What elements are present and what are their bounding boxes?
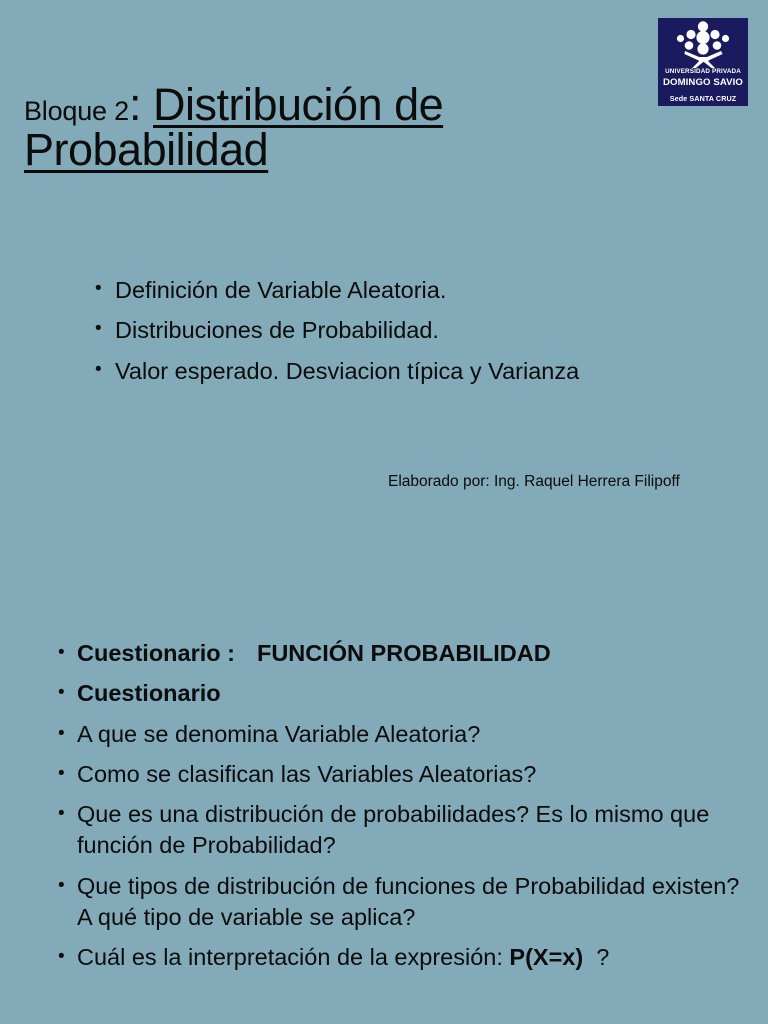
question-suffix: ?	[596, 944, 609, 970]
question-label: Cuestionario	[77, 678, 748, 709]
question-label: Como se clasifican las Variables Aleator…	[77, 759, 748, 790]
question-label: Cuál es la interpretación de la expresió…	[77, 944, 503, 970]
question-extra: FUNCIÓN PROBABILIDAD	[257, 640, 551, 666]
topic-label: Definición de Variable Aleatoria.	[115, 274, 615, 306]
author-credit: Elaborado por: Ing. Raquel Herrera Filip…	[388, 473, 680, 491]
question-label: A que se denomina Variable Aleatoria?	[77, 719, 748, 750]
question-label: Que tipos de distribución de funciones d…	[77, 871, 748, 934]
slide-canvas: UNIVERSIDAD PRIVADA DOMINGO SAVIO Sede S…	[0, 0, 768, 1024]
list-item: • A que se denomina Variable Aleatoria?	[58, 719, 748, 750]
bullet-icon: •	[58, 871, 77, 900]
questionnaire-list: • Cuestionario :FUNCIÓN PROBABILIDAD • C…	[58, 638, 748, 982]
logo-line-campus: Sede SANTA CRUZ	[658, 94, 748, 103]
university-tree-figure-icon	[658, 20, 748, 68]
list-item: • Distribuciones de Probabilidad.	[95, 314, 615, 346]
university-logo: UNIVERSIDAD PRIVADA DOMINGO SAVIO Sede S…	[658, 18, 748, 106]
question-label: Cuestionario :	[77, 640, 235, 666]
logo-line-university: UNIVERSIDAD PRIVADA	[658, 68, 748, 75]
topic-label: Valor esperado. Desviacion típica y Vari…	[115, 355, 615, 387]
list-item: • Cuál es la interpretación de la expres…	[58, 942, 748, 973]
title-separator: :	[129, 79, 153, 130]
bullet-icon: •	[58, 719, 77, 748]
list-item: • Cuestionario :FUNCIÓN PROBABILIDAD	[58, 638, 748, 669]
list-item: • Cuestionario	[58, 678, 748, 709]
logo-line-name: DOMINGO SAVIO	[658, 77, 748, 88]
bullet-icon: •	[58, 942, 77, 971]
question-formula: P(X=x)	[509, 944, 583, 970]
bullet-icon: •	[95, 314, 115, 344]
list-item: • Que es una distribución de probabilida…	[58, 799, 748, 862]
title-main-line2: Probabilidad	[24, 124, 268, 175]
bullet-icon: •	[58, 678, 77, 707]
slide-title: Bloque 2: Distribución deProbabilidad	[24, 82, 654, 172]
list-item: • Definición de Variable Aleatoria.	[95, 274, 615, 306]
bullet-icon: •	[95, 274, 115, 304]
title-main-line1: Distribución de	[153, 79, 443, 130]
bullet-icon: •	[58, 638, 77, 667]
bullet-icon: •	[58, 799, 77, 828]
list-item: • Que tipos de distribución de funciones…	[58, 871, 748, 934]
list-item: • Valor esperado. Desviacion típica y Va…	[95, 355, 615, 387]
title-prefix: Bloque 2	[24, 96, 129, 126]
list-item: • Como se clasifican las Variables Aleat…	[58, 759, 748, 790]
bullet-icon: •	[95, 355, 115, 385]
bullet-icon: •	[58, 759, 77, 788]
topic-label: Distribuciones de Probabilidad.	[115, 314, 615, 346]
question-label: Que es una distribución de probabilidade…	[77, 799, 748, 862]
topic-list: • Definición de Variable Aleatoria. • Di…	[95, 274, 615, 395]
